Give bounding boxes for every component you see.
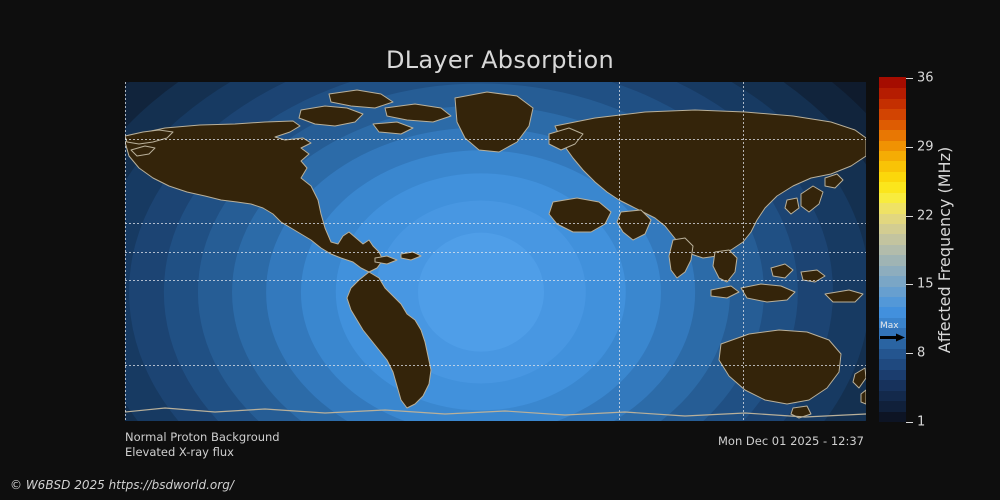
colorbar-band xyxy=(879,202,906,213)
colorbar-band xyxy=(879,411,906,422)
colorbar-band xyxy=(879,255,906,266)
colorbar-band xyxy=(879,77,906,88)
colorbar-band xyxy=(879,213,906,224)
colorbar-band xyxy=(879,119,906,130)
page-title: DLayer Absorption xyxy=(0,46,1000,74)
colorbar-band xyxy=(879,161,906,172)
app-root: DLayer Absorption xyxy=(0,0,1000,500)
colorbar-band xyxy=(879,223,906,234)
colorbar-tick-label: 29 xyxy=(917,140,934,155)
max-marker: Max xyxy=(879,323,906,345)
colorbar-band xyxy=(879,109,906,120)
colorbar-band xyxy=(879,369,906,380)
colorbar-band xyxy=(879,244,906,255)
colorbar-tick-label: 15 xyxy=(917,277,934,292)
colorbar-tick xyxy=(906,216,913,217)
colorbar-band xyxy=(879,192,906,203)
colorbar-band xyxy=(879,171,906,182)
status-xray-flux: Elevated X-ray flux xyxy=(125,445,234,459)
colorbar-tick-label: 1 xyxy=(917,415,925,430)
colorbar-band xyxy=(879,359,906,370)
colorbar-band xyxy=(879,150,906,161)
max-arrow-icon xyxy=(880,333,905,342)
colorbar-tick xyxy=(906,422,913,423)
colorbar-band xyxy=(879,390,906,401)
colorbar-gradient xyxy=(879,78,906,422)
colorbar-band xyxy=(879,182,906,193)
colorbar-band xyxy=(879,307,906,318)
colorbar-band xyxy=(879,286,906,297)
colorbar-band xyxy=(879,348,906,359)
colorbar-band xyxy=(879,98,906,109)
max-marker-label: Max xyxy=(880,321,899,331)
status-proton-background: Normal Proton Background xyxy=(125,430,280,444)
colorbar-tick-label: 8 xyxy=(917,346,925,361)
colorbar-tick-label: 22 xyxy=(917,209,934,224)
colorbar-tick xyxy=(906,147,913,148)
colorbar-tick xyxy=(906,353,913,354)
world-coastlines xyxy=(125,82,866,421)
colorbar-axis-label: Affected Frequency (MHz) xyxy=(934,78,956,422)
colorbar-tick xyxy=(906,284,913,285)
colorbar-band xyxy=(879,129,906,140)
colorbar-band xyxy=(879,296,906,307)
antarctica-coastline xyxy=(125,408,866,417)
copyright-notice: © W6BSD 2025 https://bsdworld.org/ xyxy=(10,478,234,492)
colorbar-band xyxy=(879,140,906,151)
colorbar-tick xyxy=(906,78,913,79)
map-canvas xyxy=(125,82,866,421)
colorbar-band xyxy=(879,234,906,245)
colorbar-band xyxy=(879,265,906,276)
colorbar-band xyxy=(879,88,906,99)
colorbar-band xyxy=(879,275,906,286)
colorbar[interactable]: 1815222936 Max xyxy=(879,78,906,422)
colorbar-band xyxy=(879,400,906,411)
colorbar-band xyxy=(879,380,906,391)
map-panel[interactable] xyxy=(125,82,866,421)
timestamp: Mon Dec 01 2025 - 12:37 xyxy=(718,434,864,448)
colorbar-tick-label: 36 xyxy=(917,71,934,86)
